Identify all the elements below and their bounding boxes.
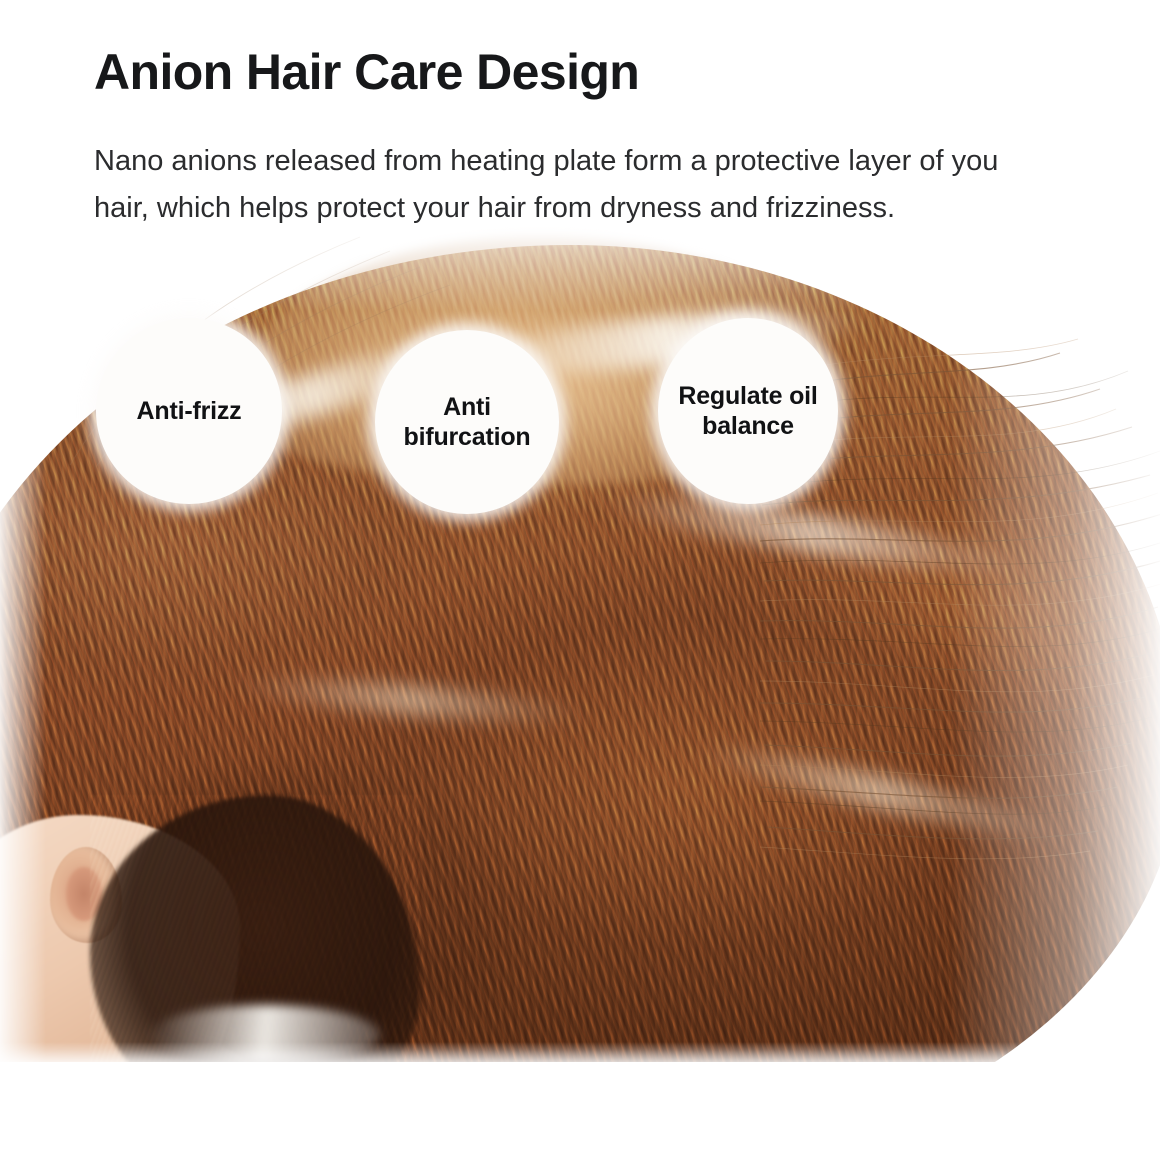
description-text: Nano anions released from heating plate … bbox=[94, 138, 1004, 232]
feature-badge-label: Regulate oil balance bbox=[658, 381, 838, 442]
feature-badge-label: Anti-frizz bbox=[131, 396, 248, 427]
feature-badge-anti-bifurcation: Anti bifurcation bbox=[375, 330, 559, 514]
photo-bottom-white bbox=[0, 1062, 1160, 1120]
hair-care-promo-poster: Anion Hair Care Design Nano anions relea… bbox=[0, 0, 1160, 1174]
feature-badge-regulate-oil-balance: Regulate oil balance bbox=[658, 318, 838, 504]
feature-badge-label: Anti bifurcation bbox=[375, 392, 559, 453]
feature-badge-anti-frizz: Anti-frizz bbox=[96, 318, 282, 504]
page-title: Anion Hair Care Design bbox=[94, 46, 639, 99]
